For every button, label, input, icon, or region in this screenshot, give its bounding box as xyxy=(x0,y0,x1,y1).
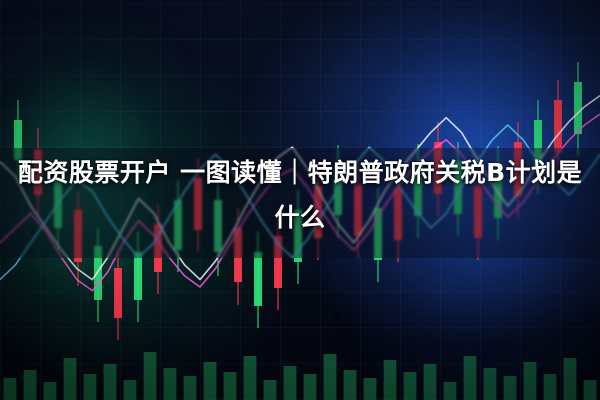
volume-bars xyxy=(4,352,597,400)
image-canvas: 配资股票开户 一图读懂｜特朗普政府关税B计划是什么 xyxy=(0,0,600,400)
headline-text: 配资股票开户 一图读懂｜特朗普政府关税B计划是什么 xyxy=(0,150,600,240)
